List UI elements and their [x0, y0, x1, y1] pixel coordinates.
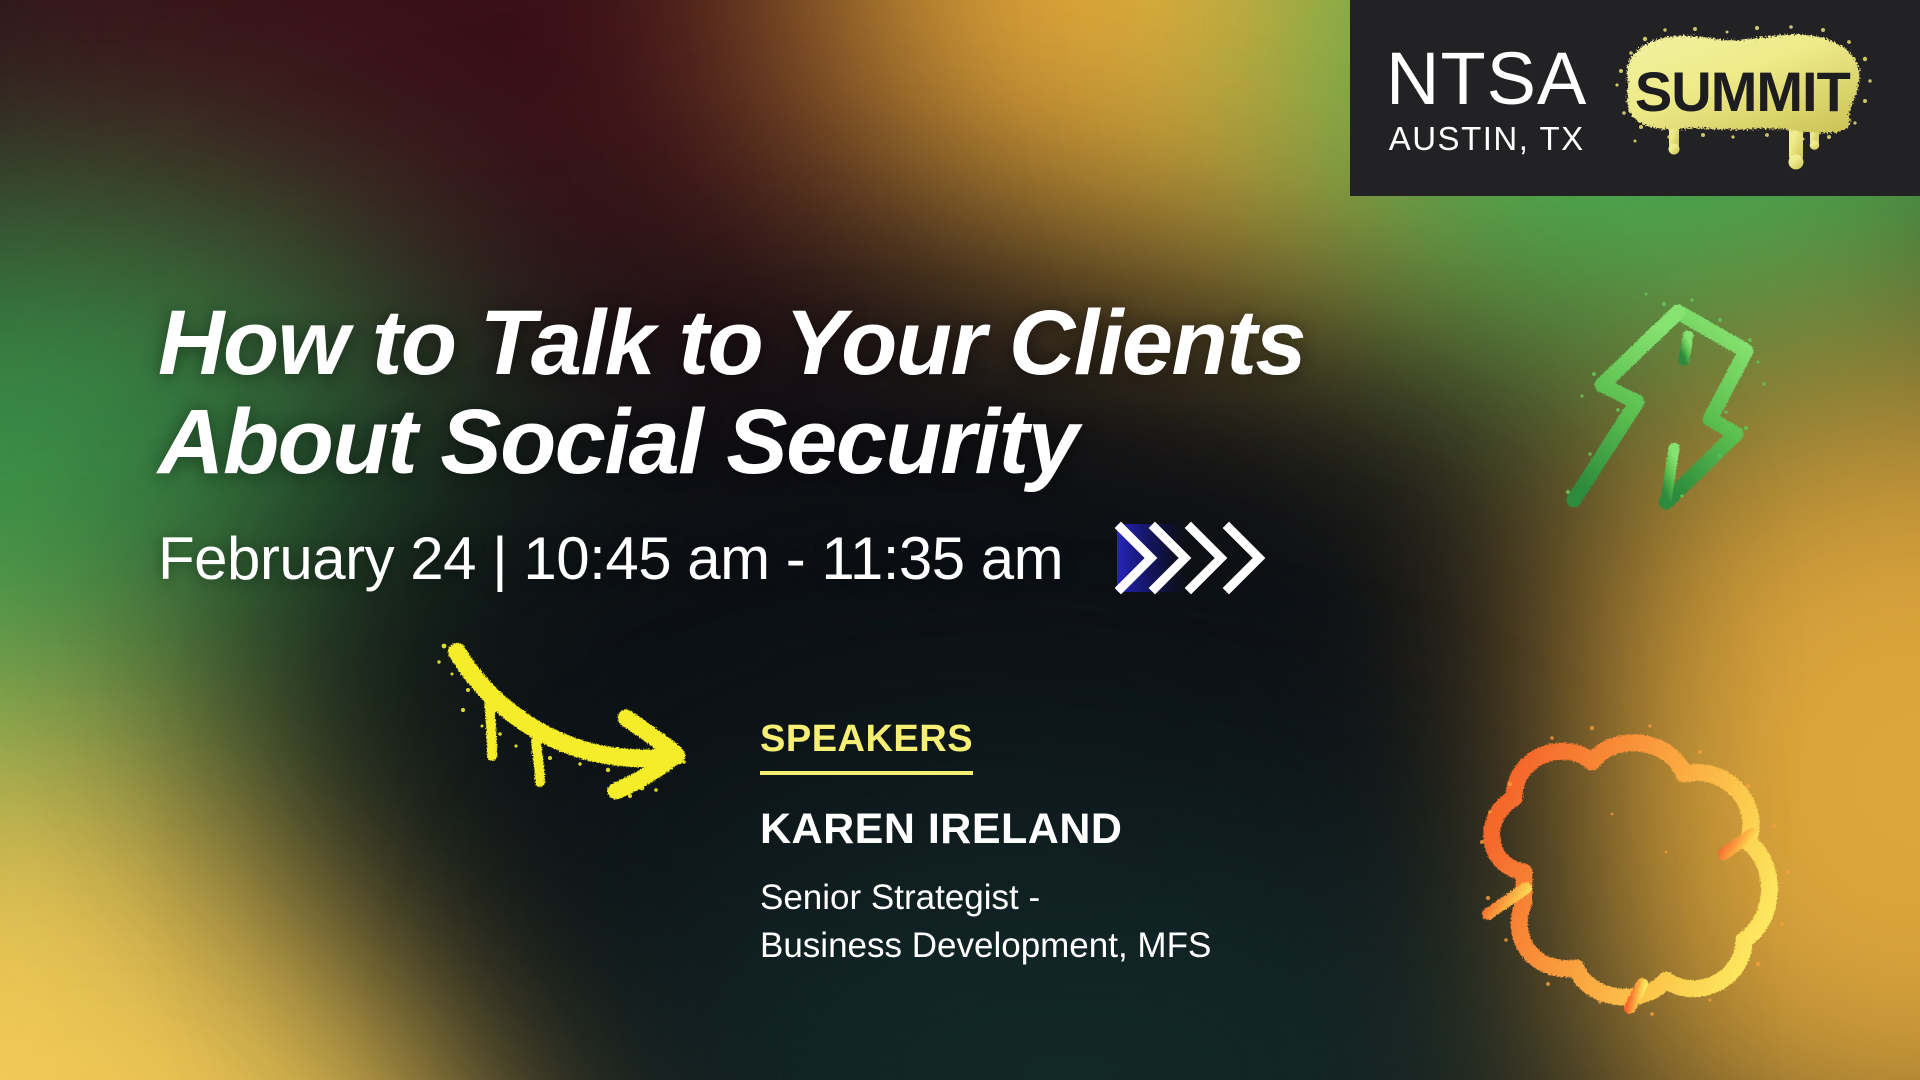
ntsa-logo-bar: NTSA AUSTIN, TX	[1350, 0, 1920, 196]
summit-badge: SUMMIT	[1607, 23, 1877, 173]
chevron-right-group-icon	[1115, 520, 1275, 596]
session-promo-card: NTSA AUSTIN, TX	[0, 0, 1920, 1080]
speakers-heading: SPEAKERS	[760, 718, 973, 775]
ntsa-acronym: NTSA	[1386, 42, 1587, 116]
session-title: How to Talk to Your Clients About Social…	[158, 294, 1338, 493]
ntsa-city-label: AUSTIN, TX	[1389, 122, 1585, 155]
session-datetime: February 24 | 10:45 am - 11:35 am	[158, 524, 1063, 593]
speakers-block: SPEAKERS KAREN IRELAND Senior Strategist…	[760, 718, 1380, 971]
session-title-line-1: How to Talk to Your Clients	[158, 294, 1338, 393]
speaker-title-line-1: Senior Strategist -	[760, 874, 1380, 922]
ntsa-wordmark: NTSA AUSTIN, TX	[1386, 42, 1587, 155]
speaker-title-line-2: Business Development, MFS	[760, 922, 1380, 970]
spray-arrow-icon	[430, 630, 710, 810]
session-title-line-2: About Social Security	[158, 393, 1338, 492]
session-datetime-row: February 24 | 10:45 am - 11:35 am	[158, 520, 1275, 596]
speaker-title: Senior Strategist - Business Development…	[760, 874, 1380, 971]
lightning-bolt-icon	[1560, 288, 1780, 520]
cloud-icon	[1452, 702, 1812, 1022]
speaker-name: KAREN IRELAND	[760, 805, 1380, 854]
summit-badge-label: SUMMIT	[1635, 59, 1850, 124]
speaker-entry: KAREN IRELAND Senior Strategist - Busine…	[760, 805, 1380, 971]
